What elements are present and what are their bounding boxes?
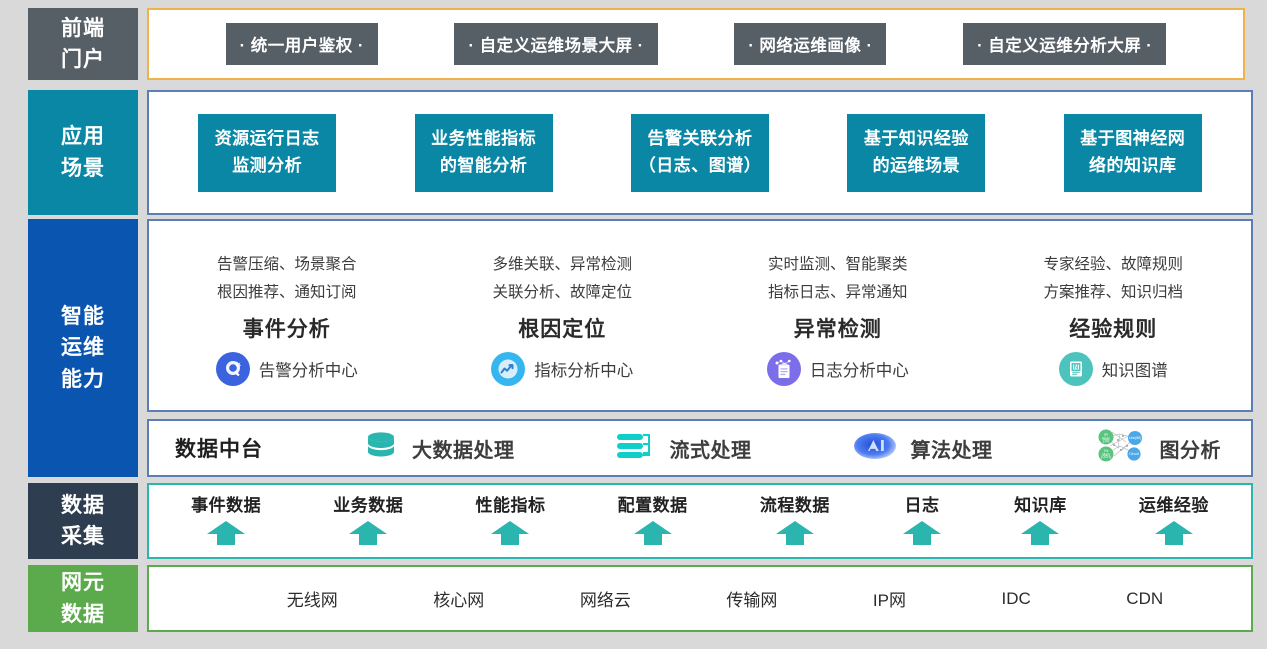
data-platform-item-label: 图分析 [1160, 434, 1222, 463]
application-chip[interactable]: 基于图神经网 络的知识库 [1064, 114, 1202, 192]
row-label-line1: 智能 [61, 301, 105, 333]
up-arrow-icon [1154, 520, 1194, 551]
capability-bullet-line2: 根因推荐、通知订阅 [217, 279, 357, 306]
application-chip-line1: 业务性能指标 [431, 126, 536, 152]
application-chip-line1: 告警关联分析 [647, 126, 752, 152]
capability-product-label: 告警分析中心 [259, 357, 358, 381]
row-label-line2: 采集 [61, 521, 105, 553]
portal-chip-container: · 统一用户鉴权 · · 自定义运维场景大屏 · · 网络运维画像 · · 自定… [147, 8, 1245, 80]
portal-chip[interactable]: · 网络运维画像 · [734, 23, 886, 65]
data-collection-item[interactable]: 日志 [902, 491, 942, 551]
capability-title: 根因定位 [518, 313, 606, 343]
svg-text:(OCH): (OCH) [1101, 455, 1111, 459]
knowledge-graph-icon: N [1059, 352, 1093, 386]
row-label-network-element-data: 网元 数据 [28, 565, 138, 632]
application-chip-line2: 监测分析 [232, 153, 302, 179]
up-arrow-icon [490, 520, 530, 551]
row-label-frontend-portal: 前端 门户 [28, 8, 138, 80]
data-collection-item[interactable]: 性能指标 [475, 491, 545, 551]
up-arrow-icon [775, 520, 815, 551]
capability-bullets: 告警压缩、场景聚合 根因推荐、通知订阅 [217, 251, 357, 305]
network-element-item[interactable]: IP网 [873, 586, 906, 611]
row-label-line1: 应用 [61, 121, 105, 153]
row-label-line2: 数据 [61, 599, 105, 631]
graph-network-icon: IP/Node(15) TrkMain(OCH) Link(88) Circui… [1092, 426, 1148, 471]
data-collection-label: 知识库 [1014, 491, 1067, 516]
architecture-diagram: 前端 门户 · 统一用户鉴权 · · 自定义运维场景大屏 · · 网络运维画像 … [0, 0, 1267, 649]
up-arrow-icon [633, 520, 673, 551]
application-chip[interactable]: 资源运行日志 监测分析 [198, 114, 336, 192]
capability-title: 异常检测 [794, 313, 882, 343]
database-icon [362, 429, 400, 468]
up-arrow-icon [206, 520, 246, 551]
row-label-line2: 场景 [61, 153, 105, 185]
log-analysis-icon [767, 352, 801, 386]
capability-product-label: 知识图谱 [1102, 357, 1168, 381]
capability-bullets: 专家经验、故障规则 方案推荐、知识归档 [1043, 251, 1183, 305]
network-element-item[interactable]: IDC [1001, 589, 1030, 609]
portal-chip[interactable]: · 自定义运维场景大屏 · [454, 23, 657, 65]
capability-bullet-line1: 多维关联、异常检测 [492, 251, 632, 278]
application-chip-line2: （日志、图谱） [639, 153, 762, 179]
application-chip[interactable]: 基于知识经验 的运维场景 [847, 114, 985, 192]
capability-column-experience-rules: 专家经验、故障规则 方案推荐、知识归档 经验规则 N [976, 221, 1252, 410]
capability-bullets: 多维关联、异常检测 关联分析、故障定位 [492, 251, 632, 305]
application-chip-line2: 络的知识库 [1089, 153, 1177, 179]
capability-product[interactable]: N 知识图谱 [1059, 352, 1168, 386]
row-label-data-collection: 数据 采集 [28, 483, 138, 559]
data-collection-item[interactable]: 业务数据 [333, 491, 403, 551]
up-arrow-icon [1020, 520, 1060, 551]
data-platform-item-label: 算法处理 [911, 434, 993, 463]
data-collection-item[interactable]: 事件数据 [191, 491, 261, 551]
data-collection-label: 业务数据 [333, 491, 403, 516]
application-chip-line2: 的智能分析 [440, 153, 528, 179]
data-collection-label: 运维经验 [1139, 491, 1209, 516]
data-platform-item-label: 大数据处理 [412, 434, 515, 463]
data-platform-item-graph[interactable]: IP/Node(15) TrkMain(OCH) Link(88) Circui… [1092, 426, 1222, 471]
application-chip-line1: 基于知识经验 [864, 126, 969, 152]
capability-bullet-line1: 实时监测、智能聚类 [768, 251, 908, 278]
application-chip-line1: 基于图神经网 [1080, 126, 1185, 152]
row-data-collection: 数据 采集 事件数据 业务数据 性能指标 配置数据 流程数据 [0, 483, 1267, 559]
capability-column-anomaly-detection: 实时监测、智能聚类 指标日志、异常通知 异常检测 [700, 221, 976, 410]
data-platform-item-label: 流式处理 [670, 434, 752, 463]
data-collection-label: 事件数据 [191, 491, 261, 516]
capability-column-event-analysis: 告警压缩、场景聚合 根因推荐、通知订阅 事件分析 [149, 221, 425, 410]
application-chip-line2: 的运维场景 [873, 153, 961, 179]
network-element-item[interactable]: 网络云 [580, 586, 631, 611]
svg-text:(15): (15) [1102, 439, 1108, 443]
data-collection-item[interactable]: 配置数据 [618, 491, 688, 551]
row-label-aiops-capability: 智能 运维 能力 [28, 219, 138, 477]
capability-bullet-line1: 专家经验、故障规则 [1043, 251, 1183, 278]
data-collection-item[interactable]: 运维经验 [1139, 491, 1209, 551]
row-aiops-capability: 智能 运维 能力 告警压缩、场景聚合 根因推荐、通知订阅 事件分析 [0, 219, 1267, 477]
network-element-item[interactable]: 无线网 [287, 586, 338, 611]
application-chip[interactable]: 业务性能指标 的智能分析 [415, 114, 553, 192]
data-platform-item-algorithm[interactable]: 算法处理 [851, 429, 993, 468]
row-label-line1: 数据 [61, 490, 105, 522]
data-collection-label: 性能指标 [475, 491, 545, 516]
capability-product[interactable]: 日志分析中心 [767, 352, 909, 386]
application-chip-container: 资源运行日志 监测分析 业务性能指标 的智能分析 告警关联分析 （日志、图谱） … [147, 90, 1253, 215]
alarm-analysis-icon [216, 352, 250, 386]
capability-product[interactable]: 指标分析中心 [491, 352, 633, 386]
row-label-line1: 网元 [61, 567, 105, 599]
up-arrow-icon [902, 520, 942, 551]
metric-analysis-icon [491, 352, 525, 386]
row-label-line2: 门户 [61, 44, 105, 76]
data-platform-title: 数据中台 [175, 433, 263, 463]
data-collection-item[interactable]: 流程数据 [760, 491, 830, 551]
network-element-container: 无线网 核心网 网络云 传输网 IP网 IDC CDN [147, 565, 1253, 632]
capability-columns-container: 告警压缩、场景聚合 根因推荐、通知订阅 事件分析 [147, 219, 1253, 412]
application-chip[interactable]: 告警关联分析 （日志、图谱） [631, 114, 769, 192]
row-label-line2: 运维 [61, 332, 105, 364]
data-collection-item[interactable]: 知识库 [1014, 491, 1067, 551]
capability-title: 事件分析 [243, 313, 331, 343]
ai-icon [851, 429, 899, 468]
row-frontend-portal: 前端 门户 · 统一用户鉴权 · · 自定义运维场景大屏 · · 网络运维画像 … [0, 8, 1267, 80]
portal-chip[interactable]: · 自定义运维分析大屏 · [963, 23, 1166, 65]
capability-bullet-line1: 告警压缩、场景聚合 [217, 251, 357, 278]
svg-text:N: N [1074, 364, 1079, 371]
data-collection-container: 事件数据 业务数据 性能指标 配置数据 流程数据 日志 [147, 483, 1253, 559]
capability-title: 经验规则 [1069, 313, 1157, 343]
data-collection-label: 配置数据 [618, 491, 688, 516]
capability-stack: 告警压缩、场景聚合 根因推荐、通知订阅 事件分析 [147, 219, 1253, 477]
capability-product-label: 日志分析中心 [810, 357, 909, 381]
row-label-line1: 前端 [61, 13, 105, 45]
capability-bullet-line2: 关联分析、故障定位 [492, 279, 632, 306]
network-element-item[interactable]: 核心网 [433, 586, 484, 611]
capability-column-root-cause: 多维关联、异常检测 关联分析、故障定位 根因定位 指标分析中心 [425, 221, 701, 410]
capability-bullet-line2: 方案推荐、知识归档 [1043, 279, 1183, 306]
row-application-scenarios: 应用 场景 资源运行日志 监测分析 业务性能指标 的智能分析 告警关联分析 （日… [0, 90, 1267, 215]
network-element-item[interactable]: 传输网 [726, 586, 777, 611]
capability-product[interactable]: 告警分析中心 [216, 352, 358, 386]
row-label-line3: 能力 [61, 364, 105, 396]
application-chip-line1: 资源运行日志 [215, 126, 320, 152]
capability-bullets: 实时监测、智能聚类 指标日志、异常通知 [768, 251, 908, 305]
row-network-element-data: 网元 数据 无线网 核心网 网络云 传输网 IP网 IDC CDN [0, 565, 1267, 632]
svg-text:Circuit: Circuit [1129, 452, 1139, 456]
data-platform-item-bigdata[interactable]: 大数据处理 [362, 429, 515, 468]
data-platform-strip: 数据中台 大数据处理 [147, 419, 1253, 477]
data-platform-item-stream[interactable]: 流式处理 [614, 429, 752, 468]
portal-chip[interactable]: · 统一用户鉴权 · [226, 23, 378, 65]
svg-text:Link(88): Link(88) [1128, 436, 1140, 440]
up-arrow-icon [348, 520, 388, 551]
capability-bullet-line2: 指标日志、异常通知 [768, 279, 908, 306]
network-element-item[interactable]: CDN [1126, 589, 1163, 609]
capability-product-label: 指标分析中心 [534, 357, 633, 381]
data-collection-label: 流程数据 [760, 491, 830, 516]
data-collection-label: 日志 [905, 491, 940, 516]
stream-icon [614, 429, 658, 468]
row-label-application-scenarios: 应用 场景 [28, 90, 138, 215]
